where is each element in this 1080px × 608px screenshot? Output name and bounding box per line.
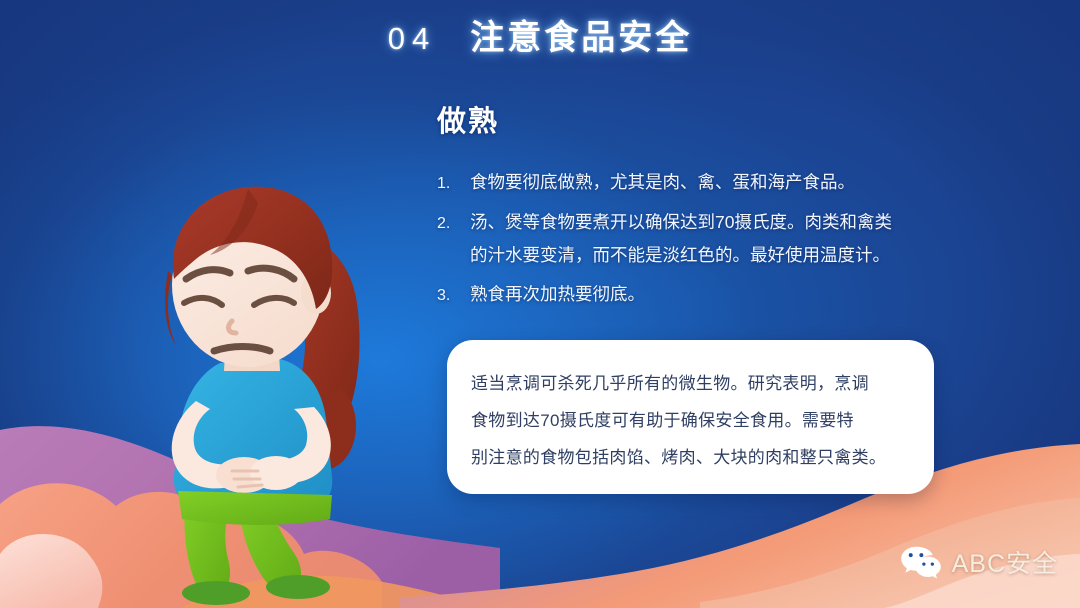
list-item-line: 食物要彻底做熟，尤其是肉、禽、蛋和海产食品。 xyxy=(470,172,855,192)
list-item: 3. 熟食再次加热要彻底。 xyxy=(437,278,997,312)
slide-header: 04 注意食品安全 xyxy=(0,10,1080,59)
callout-line: 别注意的食物包括肉馅、烤肉、大块的肉和整只禽类。 xyxy=(471,439,911,476)
list-item-text: 食物要彻底做熟，尤其是肉、禽、蛋和海产食品。 xyxy=(470,166,997,199)
content-column: 做熟 1. 食物要彻底做熟，尤其是肉、禽、蛋和海产食品。 2. 汤、煲等食物要煮… xyxy=(437,98,997,318)
list-item-number: 3. xyxy=(437,278,470,312)
list-item-text: 熟食再次加热要彻底。 xyxy=(470,278,997,311)
callout-line: 适当烹调可杀死几乎所有的微生物。研究表明，烹调 xyxy=(471,365,911,402)
list-item-line: 的汁水要变清，而不能是淡红色的。最好使用温度计。 xyxy=(470,239,997,272)
illustration-woman-stomach-ache xyxy=(108,175,408,608)
callout-line: 食物到达70摄氏度可有助于确保安全食用。需要特 xyxy=(471,402,911,439)
list-item-line: 熟食再次加热要彻底。 xyxy=(470,284,645,304)
list-item-number: 2. xyxy=(437,206,470,240)
brand-footer: ABC安全 xyxy=(899,544,1058,580)
slide-canvas: 04 注意食品安全 做熟 1. 食物要彻底做熟，尤其是肉、禽、蛋和海产食品。 2… xyxy=(0,0,1080,608)
shoe-right xyxy=(266,575,330,599)
pants-hip xyxy=(178,491,332,525)
brand-name: ABC安全 xyxy=(952,544,1058,580)
list-item: 1. 食物要彻底做熟，尤其是肉、禽、蛋和海产食品。 xyxy=(437,166,997,200)
list-item-text: 汤、煲等食物要煮开以确保达到70摄氏度。肉类和禽类 的汁水要变清，而不能是淡红色… xyxy=(470,206,997,272)
list-item: 2. 汤、煲等食物要煮开以确保达到70摄氏度。肉类和禽类 的汁水要变清，而不能是… xyxy=(437,206,997,272)
section-subtitle: 做熟 xyxy=(437,98,997,140)
shoe-left xyxy=(182,581,250,605)
numbered-list: 1. 食物要彻底做熟，尤其是肉、禽、蛋和海产食品。 2. 汤、煲等食物要煮开以确… xyxy=(437,166,997,312)
wechat-icon xyxy=(899,544,943,580)
section-number: 04 xyxy=(388,21,436,57)
callout-box: 适当烹调可杀死几乎所有的微生物。研究表明，烹调 食物到达70摄氏度可有助于确保安… xyxy=(447,340,934,494)
list-item-number: 1. xyxy=(437,166,470,200)
list-item-line: 汤、煲等食物要煮开以确保达到70摄氏度。肉类和禽类 xyxy=(470,212,892,232)
page-title: 注意食品安全 xyxy=(470,10,692,59)
